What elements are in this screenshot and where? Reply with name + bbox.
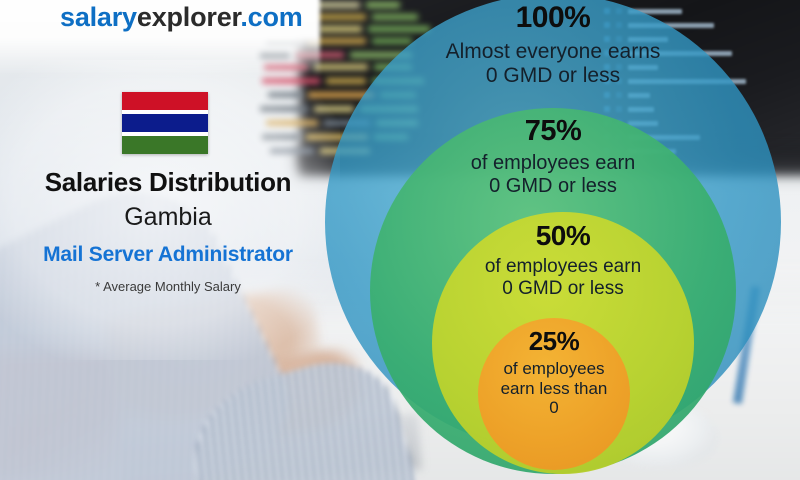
distribution-circles: 100% Almost everyone earns 0 GMD or less… (0, 0, 800, 480)
circle-25-percent: 25% (478, 318, 630, 354)
circle-75-line1: of employees earn (370, 152, 736, 175)
circle-75-percent: 75% (370, 108, 736, 146)
circle-50-line2: 0 GMD or less (432, 278, 694, 300)
circle-100-line1: Almost everyone earns (325, 40, 781, 64)
circle-75-description: of employees earn 0 GMD or less (370, 152, 736, 198)
circle-25-line1: of employees (478, 359, 630, 379)
circle-100-description: Almost everyone earns 0 GMD or less (325, 40, 781, 89)
circle-50-percent: 50% (432, 212, 694, 250)
infographic-canvas: salaryexplorer.com Salaries Distribution… (0, 0, 800, 480)
circle-percentile-25: 25% of employees earn less than 0 (478, 318, 630, 470)
circle-75-line2: 0 GMD or less (370, 175, 736, 198)
circle-100-line2: 0 GMD or less (325, 64, 781, 88)
circle-25-line3: 0 (478, 398, 630, 418)
circle-50-description: of employees earn 0 GMD or less (432, 256, 694, 300)
circle-50-line1: of employees earn (432, 256, 694, 278)
circle-25-description: of employees earn less than 0 (478, 359, 630, 418)
circle-25-line2: earn less than (478, 379, 630, 399)
circle-100-percent: 100% (325, 0, 781, 33)
